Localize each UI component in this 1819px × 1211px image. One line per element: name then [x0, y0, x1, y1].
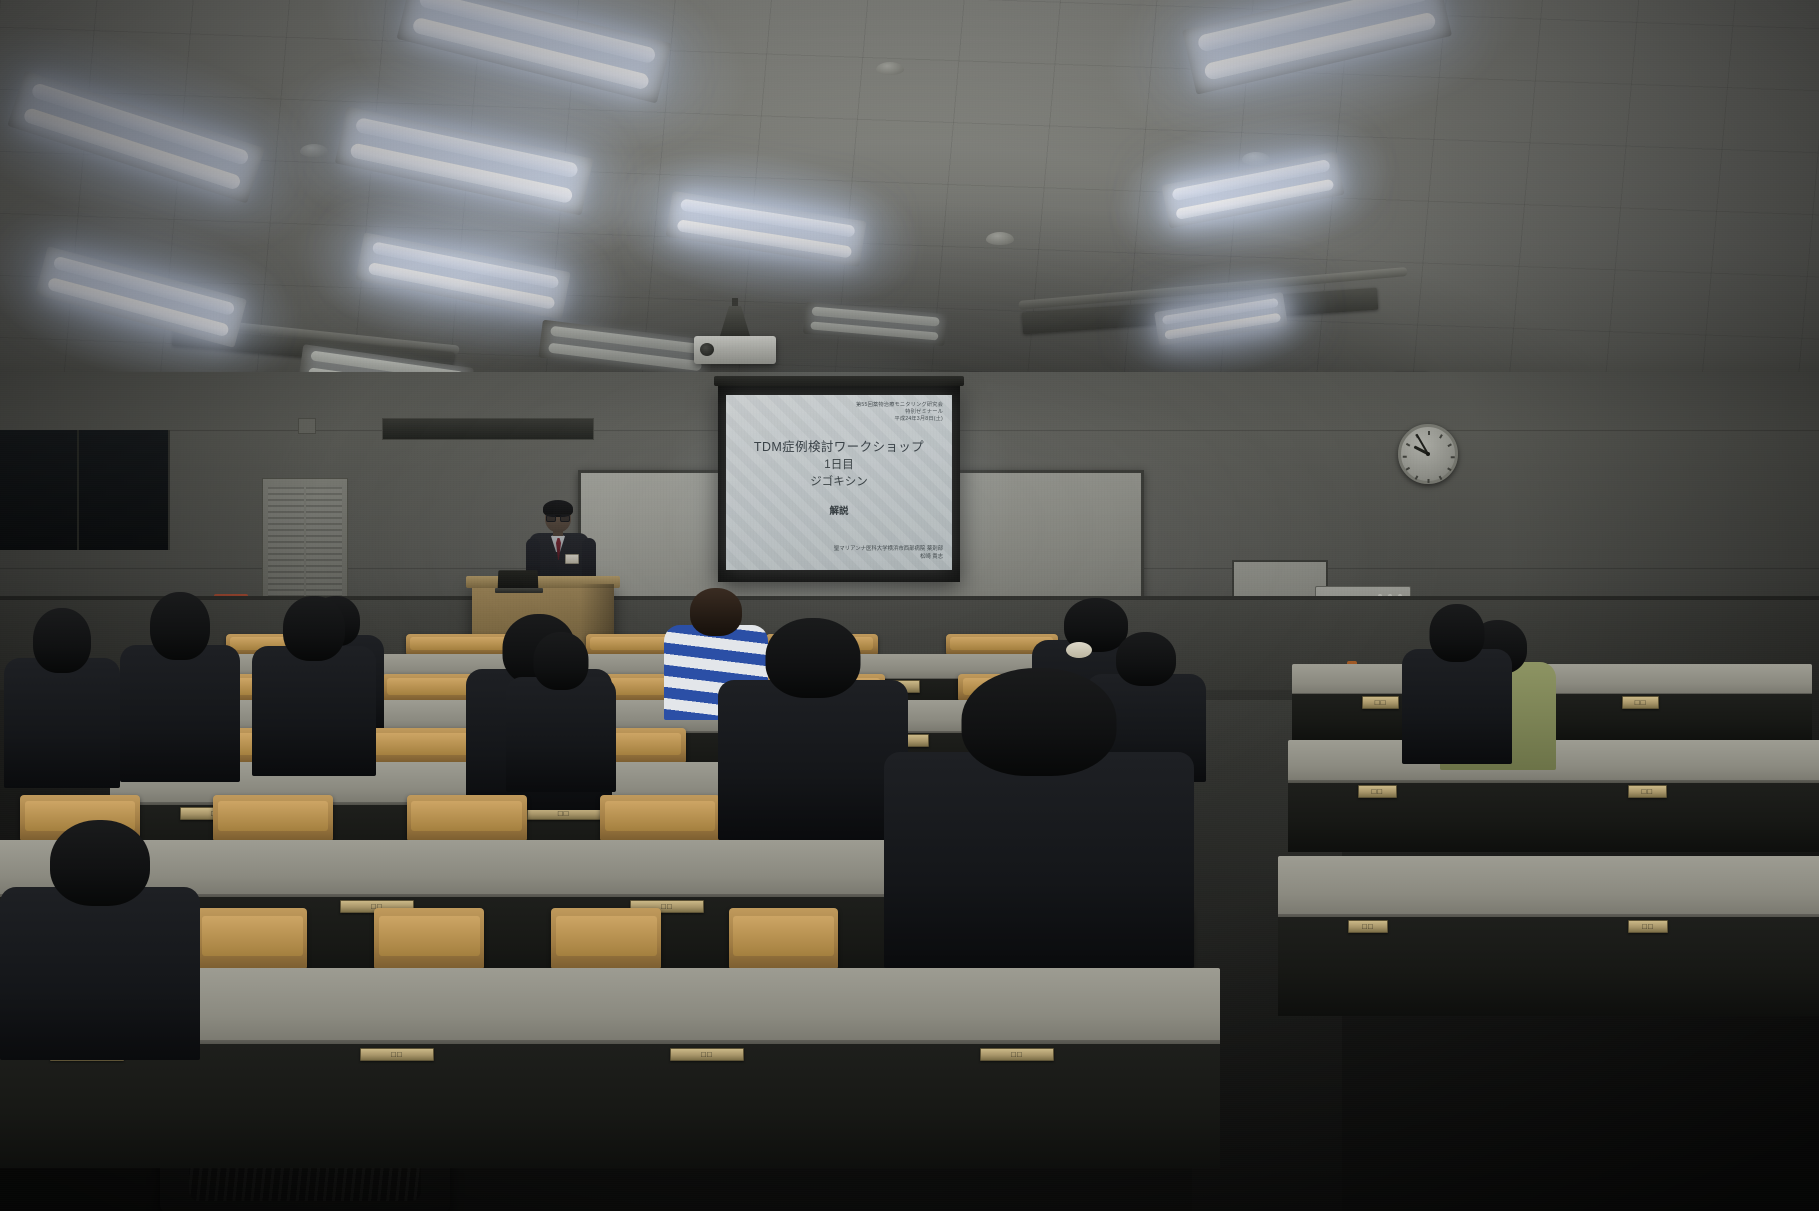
seat-back: [358, 728, 478, 762]
door-panel: [262, 478, 348, 610]
clock-center-pin: [1426, 452, 1430, 456]
seat-pad: [202, 916, 303, 956]
laptop-base: [495, 588, 543, 593]
clock-tick: [1406, 443, 1410, 446]
seated-attendee: [884, 668, 1194, 968]
seat-pad: [218, 801, 328, 831]
seated-attendee: [506, 632, 616, 792]
clock-tick: [1451, 456, 1455, 458]
attendee-torso: [252, 646, 376, 776]
attendee-head: [766, 618, 861, 698]
attendee-head: [283, 596, 345, 661]
slide-affiliation: 聖マリアンナ医科大学横浜市西部病院 薬剤部: [735, 546, 943, 554]
attendee-head: [1430, 604, 1485, 662]
slide-section-label: 解説: [735, 503, 943, 517]
seat-back: [407, 795, 527, 840]
clock-tick: [1428, 431, 1430, 435]
clock-tick: [1428, 479, 1430, 483]
seated-attendee: [718, 618, 908, 840]
slide-header-line-2: 特別ゼミナール: [735, 409, 943, 416]
wall-vent-strip: [382, 418, 594, 440]
seat-back: [551, 908, 661, 968]
analog-wall-clock: [1398, 424, 1458, 484]
clock-tick: [1439, 476, 1442, 480]
attendee-head: [33, 608, 91, 673]
desk-number-plate: □□: [1348, 920, 1388, 933]
seated-attendee: [4, 608, 120, 788]
wall-outlet-plate: [298, 418, 316, 434]
slide-header: 第55回薬物治療モニタリング研究会 特別ゼミナール 平成24年3月8日(土): [735, 402, 943, 423]
seat-pad: [363, 733, 473, 755]
clock-tick: [1415, 476, 1418, 480]
seated-attendee: [1402, 604, 1512, 764]
presentation-slide: 第55回薬物治療モニタリング研究会 特別ゼミナール 平成24年3月8日(土) T…: [726, 395, 952, 570]
attendee-torso: [884, 752, 1194, 968]
desk-number-plate: □□: [1362, 696, 1399, 709]
slide-title-line-1: TDM症例検討ワークショップ: [735, 436, 943, 455]
slide-title-line-3: ジゴキシン: [735, 473, 943, 489]
slide-header-line-1: 第55回薬物治療モニタリング研究会: [735, 402, 943, 409]
attendee-torso: [506, 677, 616, 792]
clock-tick: [1406, 467, 1410, 470]
lecture-hall-photo: 第55回薬物治療モニタリング研究会 特別ゼミナール 平成24年3月8日(土) T…: [0, 0, 1819, 1211]
attendee-head: [534, 632, 589, 690]
desk-number-plate: □□: [1622, 696, 1659, 709]
desk-number-plate: □□: [980, 1048, 1054, 1061]
attendee-torso: [4, 658, 120, 788]
laptop-on-podium: [498, 570, 540, 592]
clock-tick: [1447, 467, 1451, 470]
slide-footer: 聖マリアンナ医科大学横浜市西部病院 薬剤部 松崎 貴志: [735, 546, 943, 562]
clock-tick: [1403, 456, 1407, 458]
hair-scrunchie: [1066, 642, 1092, 658]
presenter-name-badge: [565, 554, 579, 564]
seat-pad: [556, 916, 657, 956]
seat-back: [374, 908, 484, 968]
clock-tick: [1439, 434, 1442, 438]
slide-title-line-2: 1日目: [735, 456, 943, 472]
desk-number-plate: □□: [1628, 785, 1667, 798]
eyeglasses-icon: [546, 514, 570, 519]
seat-pad: [733, 916, 834, 956]
seated-attendee: [0, 820, 200, 1060]
attendee-torso: [718, 680, 908, 840]
attendee-torso: [120, 645, 240, 782]
desk-number-plate: □□: [360, 1048, 434, 1061]
desk-number-plate: □□: [1358, 785, 1397, 798]
attendee-head: [150, 592, 210, 660]
ceiling: [0, 0, 1819, 400]
desk-row: [1278, 856, 1819, 1016]
desk-top-surface: [1278, 856, 1819, 920]
attendee-torso: [1402, 649, 1512, 764]
seat-back: [197, 908, 307, 968]
attendee-torso: [0, 887, 200, 1060]
seat-pad: [605, 801, 715, 831]
seat-back: [729, 908, 839, 968]
slide-header-line-3: 平成24年3月8日(土): [735, 416, 943, 423]
desk-number-plate: □□: [670, 1048, 744, 1061]
attendee-head: [50, 820, 150, 906]
ceiling-shadow: [0, 0, 1819, 400]
darkened-window-band: [0, 430, 170, 550]
seat-pad: [379, 916, 480, 956]
desk-front-panel: [0, 1044, 1220, 1168]
attendee-head: [962, 668, 1117, 776]
projection-screen: 第55回薬物治療モニタリング研究会 特別ゼミナール 平成24年3月8日(土) T…: [718, 386, 960, 582]
projector-icon: [694, 322, 776, 366]
slide-title-block: TDM症例検討ワークショップ 1日目 ジゴキシン: [735, 436, 943, 489]
desk-number-plate: □□: [1628, 920, 1668, 933]
seated-attendee: [252, 596, 376, 776]
seat-back: [213, 795, 333, 840]
laptop-lid: [498, 570, 539, 589]
seat-pad: [411, 801, 521, 831]
slide-presenter-name: 松崎 貴志: [735, 554, 943, 562]
seated-attendee: [120, 592, 240, 782]
seat-back: [600, 795, 720, 840]
screen-roller-bar: [714, 376, 964, 386]
clock-tick: [1447, 443, 1451, 446]
projector-lens: [700, 343, 714, 356]
